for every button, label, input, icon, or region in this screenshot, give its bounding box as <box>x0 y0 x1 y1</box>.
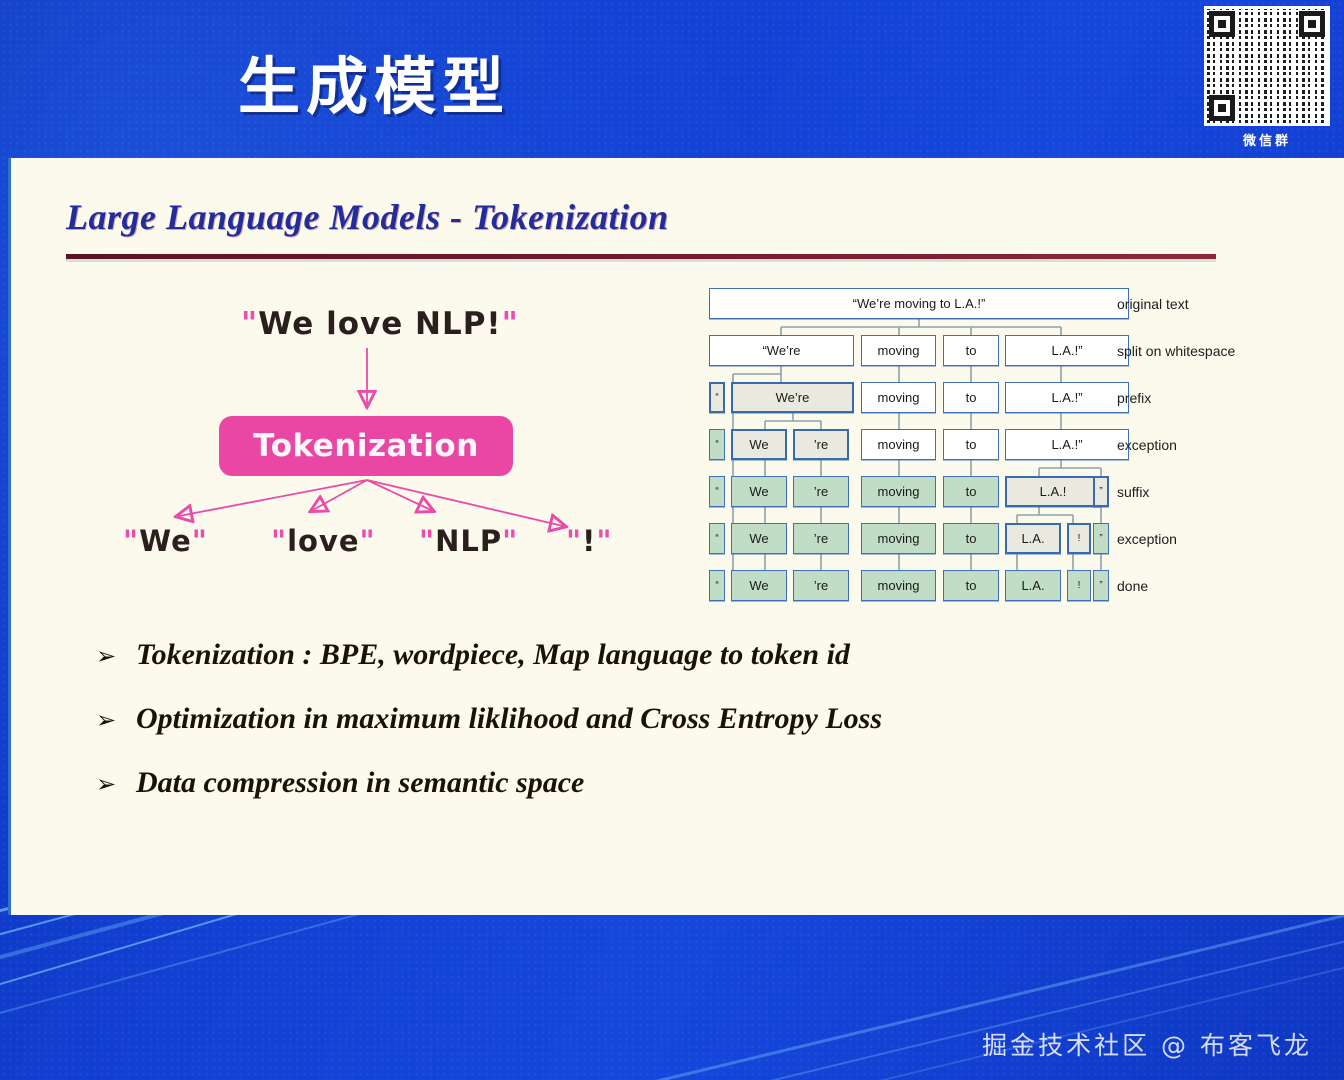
section-heading-group: Large Language Models - Tokenization <box>66 196 1216 259</box>
heading-divider <box>66 254 1216 259</box>
pipeline-node: moving <box>861 476 936 507</box>
slide-header: 生成模型 微信群 <box>0 0 1344 158</box>
tokenization-process-label: Tokenization <box>253 428 479 464</box>
section-heading: Large Language Models - Tokenization <box>66 196 1216 238</box>
pipeline-node: ! <box>1067 570 1091 601</box>
qr-badge[interactable]: 微信群 <box>1200 6 1334 149</box>
token-quote-close: " <box>192 524 208 558</box>
bullet-text: Optimization in maximum liklihood and Cr… <box>136 702 882 736</box>
pipeline-node: We <box>731 570 787 601</box>
bullet-item: ➢ Data compression in semantic space <box>96 766 1196 800</box>
pipeline-node: to <box>943 335 999 366</box>
pipeline-node: ’re <box>793 570 849 601</box>
pipeline-node: “ <box>709 382 725 413</box>
qr-code-icon[interactable] <box>1204 6 1330 126</box>
token-quote-close: " <box>596 524 612 558</box>
pipeline-node: moving <box>861 429 936 460</box>
pipeline-node: to <box>943 523 999 554</box>
pipeline-node: “We’re <box>709 335 854 366</box>
pipeline-node: to <box>943 570 999 601</box>
footer-watermark: 掘金技术社区 @ 布客飞龙 <box>982 1026 1312 1062</box>
tokenization-illustration: "We love NLP!" Tokenization "We" "love" … <box>101 298 661 598</box>
pipeline-node: ” <box>1093 476 1109 507</box>
quote-open: " <box>241 306 258 342</box>
pipeline-row-label: prefix <box>1117 390 1151 406</box>
pipeline-node: L.A.!” <box>1005 382 1129 413</box>
qr-label: 微信群 <box>1200 130 1334 149</box>
token-text: We <box>139 524 192 558</box>
pipeline-node: moving <box>861 335 936 366</box>
source-phrase: "We love NLP!" <box>241 306 519 342</box>
spacy-tokenizer-pipeline: “We’re moving to L.A.!”original text“We’… <box>709 284 1129 614</box>
bullet-list: ➢ Tokenization : BPE, wordpiece, Map lan… <box>96 638 1196 830</box>
qr-finder-bottom-left <box>1209 95 1235 121</box>
qr-finder-top-left <box>1209 11 1235 37</box>
pipeline-node: “ <box>709 523 725 554</box>
pipeline-row-label: original text <box>1117 296 1189 312</box>
pipeline-node: moving <box>861 570 936 601</box>
token-chip-2: "NLP" <box>419 524 518 558</box>
pipeline-node: We’re <box>731 382 854 413</box>
token-text: NLP <box>435 524 502 558</box>
pipeline-node: We <box>731 476 787 507</box>
token-quote-close: " <box>502 524 518 558</box>
pipeline-node: to <box>943 476 999 507</box>
token-chip-1: "love" <box>271 524 376 558</box>
pipeline-node: moving <box>861 382 936 413</box>
pipeline-node: L.A. <box>1005 523 1061 554</box>
pipeline-node: “ <box>709 429 725 460</box>
token-quote-open: " <box>566 524 582 558</box>
pipeline-node: moving <box>861 523 936 554</box>
pipeline-node: ” <box>1093 570 1109 601</box>
pipeline-node: to <box>943 429 999 460</box>
pipeline-row-label: done <box>1117 578 1148 594</box>
bullet-marker-icon: ➢ <box>96 706 136 734</box>
pipeline-node: We <box>731 523 787 554</box>
bullet-item: ➢ Tokenization : BPE, wordpiece, Map lan… <box>96 638 1196 672</box>
page-title: 生成模型 <box>238 36 510 126</box>
pipeline-node: L.A.!” <box>1005 335 1129 366</box>
pipeline-node: L.A. <box>1005 570 1061 601</box>
pipeline-node: L.A.!” <box>1005 429 1129 460</box>
token-quote-close: " <box>360 524 376 558</box>
pipeline-node: “ <box>709 476 725 507</box>
pipeline-node: ’re <box>793 523 849 554</box>
bullet-text: Tokenization : BPE, wordpiece, Map langu… <box>136 638 850 672</box>
pipeline-node: “ <box>709 570 725 601</box>
pipeline-node: L.A.! <box>1005 476 1101 507</box>
pipeline-row-label: split on whitespace <box>1117 343 1235 359</box>
slide-root: 生成模型 微信群 Large Language Models - Tokeniz… <box>0 0 1344 1080</box>
bullet-item: ➢ Optimization in maximum liklihood and … <box>96 702 1196 736</box>
content-panel: Large Language Models - Tokenization <box>8 158 1344 915</box>
bullet-marker-icon: ➢ <box>96 770 136 798</box>
token-chip-0: "We" <box>123 524 208 558</box>
bullet-text: Data compression in semantic space <box>136 766 584 800</box>
bullet-marker-icon: ➢ <box>96 642 136 670</box>
token-text: ! <box>582 524 596 558</box>
quote-close: " <box>502 306 519 342</box>
pipeline-node: “We’re moving to L.A.!” <box>709 288 1129 319</box>
token-chip-3: "!" <box>566 524 612 558</box>
pipeline-node: to <box>943 382 999 413</box>
pipeline-node: ’re <box>793 476 849 507</box>
token-quote-open: " <box>271 524 287 558</box>
source-phrase-body: We love NLP! <box>258 306 501 342</box>
pipeline-row-label: exception <box>1117 437 1177 453</box>
pipeline-row-label: exception <box>1117 531 1177 547</box>
pipeline-node: ” <box>1093 523 1109 554</box>
token-text: love <box>287 524 359 558</box>
token-quote-open: " <box>123 524 139 558</box>
pipeline-node: ! <box>1067 523 1091 554</box>
pipeline-node: We <box>731 429 787 460</box>
tokenization-process-box[interactable]: Tokenization <box>219 416 513 476</box>
pipeline-node: ’re <box>793 429 849 460</box>
qr-finder-top-right <box>1299 11 1325 37</box>
token-quote-open: " <box>419 524 435 558</box>
pipeline-row-label: suffix <box>1117 484 1149 500</box>
